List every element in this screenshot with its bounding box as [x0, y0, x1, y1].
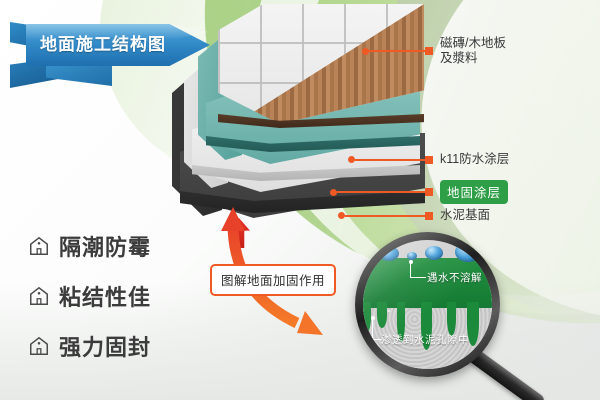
water-droplet	[455, 242, 481, 262]
callout-label-finish: 磁磚/木地板 及漿料	[440, 36, 506, 66]
callout-badge-digu: 地固涂层	[440, 180, 508, 204]
callout-digu: 地固涂层	[330, 180, 508, 204]
water-droplet	[407, 252, 417, 260]
callout-leader-line	[355, 159, 425, 161]
coating-drip	[363, 302, 371, 332]
magnifier-note-bottom: 渗透到水泥孔隙中	[381, 332, 469, 347]
leader-line	[410, 262, 426, 278]
feature-label: 粘结性佳	[59, 280, 151, 312]
feature-label: 强力固封	[59, 330, 151, 362]
callout-dot-icon	[348, 156, 355, 163]
square-marker-icon	[425, 212, 433, 220]
callout-label-k11: k11防水涂层	[440, 152, 509, 167]
house-icon	[28, 285, 50, 307]
callout-leader-line	[337, 191, 425, 193]
feature-item: 隔潮防霉	[28, 230, 218, 262]
feature-item: 粘结性佳	[28, 280, 218, 312]
callout-dot-icon	[330, 189, 337, 196]
feature-label: 隔潮防霉	[59, 230, 151, 262]
magnifier-note-top: 遇水不溶解	[427, 270, 482, 285]
house-icon	[28, 235, 50, 257]
square-marker-icon	[425, 156, 433, 164]
callout-dot-icon	[362, 48, 369, 55]
coating-drip	[447, 302, 456, 336]
feature-list: 隔潮防霉 粘结性佳 强力固封	[28, 230, 218, 380]
house-icon	[28, 335, 50, 357]
page-title: 地面施工结构图	[40, 30, 166, 55]
water-droplet	[379, 246, 399, 261]
square-marker-icon	[425, 47, 433, 55]
callout-k11: k11防水涂层	[348, 152, 509, 167]
callout-label-cement: 水泥基面	[440, 208, 490, 223]
infographic-canvas: 地面施工结构图 磁磚/木地板 及漿料 k11防水涂层 地	[0, 0, 600, 400]
magnifier-illustration: 遇水不溶解 渗透到水泥孔隙中	[355, 232, 520, 397]
square-marker-icon	[425, 188, 433, 196]
magnifier-lens: 遇水不溶解 渗透到水泥孔隙中	[363, 240, 492, 369]
feature-item: 强力固封	[28, 330, 218, 362]
graph-callout-box: 图解地面加固作用	[210, 264, 336, 296]
callout-finish: 磁磚/木地板 及漿料	[362, 36, 506, 66]
water-droplet	[425, 246, 443, 260]
callout-leader-line	[369, 50, 425, 52]
